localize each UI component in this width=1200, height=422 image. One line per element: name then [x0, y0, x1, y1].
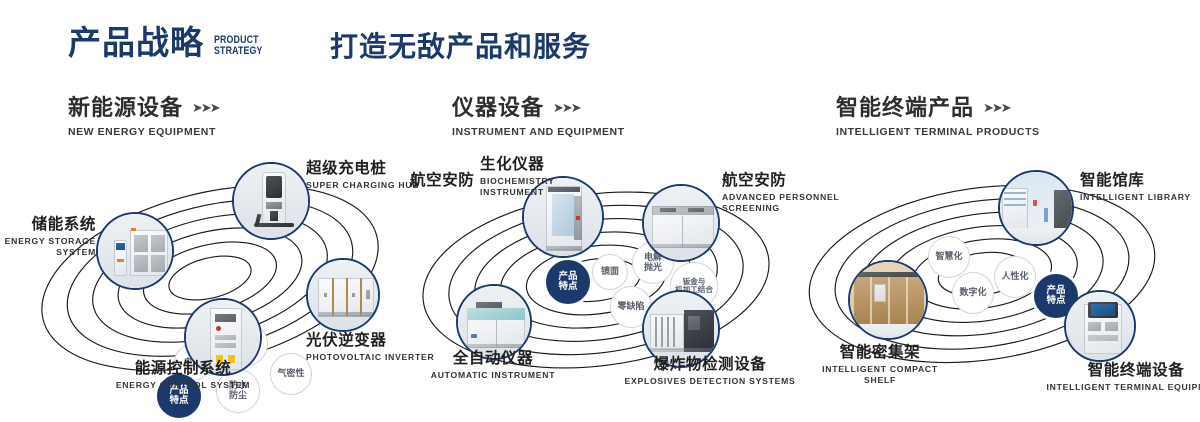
feature-bubble-humanized: 人性化 [994, 256, 1036, 298]
photovoltaic-inverter-photo [308, 260, 378, 330]
feature-bubble-digital: 数字化 [952, 272, 994, 314]
product-node-photovoltaic-inverter[interactable] [306, 258, 380, 332]
product-node-intelligent-compact-shelf[interactable] [848, 260, 928, 340]
chevron-right-icon: ➤➤➤ [553, 101, 580, 116]
section-heading-new-energy: 新能源设备 ➤➤➤ NEW ENERGY EQUIPMENT [68, 96, 219, 138]
section-heading-en: INSTRUMENT AND EQUIPMENT [452, 126, 625, 138]
product-node-energy-storage-system[interactable] [96, 212, 174, 290]
product-node-super-charging-hub[interactable] [232, 162, 310, 240]
page-title-en-line2: STRATEGY [214, 46, 263, 57]
section-heading-cn: 仪器设备 ➤➤➤ [452, 96, 625, 121]
intelligent-library-photo [1000, 172, 1072, 244]
intelligent-terminal-equipment-photo [1066, 292, 1134, 360]
section-heading-cn-text: 仪器设备 [452, 96, 544, 121]
energy-storage-system-photo [98, 214, 172, 288]
chevron-right-icon: ➤➤➤ [983, 101, 1010, 116]
caption-intelligent-compact-shelf: 智能密集架 INTELLIGENT COMPACT SHELF [780, 344, 980, 385]
automatic-instrument-photo [458, 286, 530, 358]
caption-energy-control-system: 能源控制系统 ENERGY CONTROL SYSTEM [88, 360, 278, 391]
caption-aviation-security: 航空安防 [410, 172, 474, 190]
section-heading-en: INTELLIGENT TERMINAL PRODUCTS [836, 126, 1040, 138]
caption-automatic-instrument: 全自动仪器 AUTOMATIC INSTRUMENT [398, 350, 588, 381]
product-node-intelligent-terminal-equipment[interactable] [1064, 290, 1136, 362]
panel-instrument: 镜面 电解 抛光 钣金与 机加工结合 零缺陷 产品 特点 航空安防 [398, 150, 798, 400]
infographic-page: 产品战略 PRODUCT STRATEGY 打造无敌产品和服务 新能源设备 ➤➤… [0, 0, 1200, 422]
section-heading-intelligent-terminal: 智能终端产品 ➤➤➤ INTELLIGENT TERMINAL PRODUCTS [836, 96, 1040, 138]
section-heading-cn-text: 新能源设备 [68, 96, 183, 121]
product-node-automatic-instrument[interactable] [456, 284, 532, 360]
panel-intelligent-terminal: 智慧化 人性化 数字化 产品 特点 [790, 150, 1190, 400]
section-heading-instrument: 仪器设备 ➤➤➤ INSTRUMENT AND EQUIPMENT [452, 96, 625, 138]
caption-biochemistry-instrument: 生化仪器 BIOCHEMISTRY INSTRUMENT [480, 156, 555, 197]
section-heading-cn-text: 智能终端产品 [836, 96, 974, 121]
caption-intelligent-terminal-equipment: 智能终端设备 INTELLIGENT TERMINAL EQUIPMENT [1036, 362, 1200, 393]
super-charging-hub-photo [234, 164, 308, 238]
product-node-intelligent-library[interactable] [998, 170, 1074, 246]
intelligent-compact-shelf-photo [850, 262, 926, 338]
section-heading-en: NEW ENERGY EQUIPMENT [68, 126, 219, 138]
chevron-right-icon: ➤➤➤ [192, 101, 219, 116]
feature-bubble-mirror-finish: 镜面 [592, 254, 628, 290]
panel-new-energy: 户外 防腐 防锈 防水 防尘 气密性 产品 特点 [10, 150, 410, 400]
feature-bubble-smart: 智慧化 [928, 236, 970, 278]
section-heading-cn: 智能终端产品 ➤➤➤ [836, 96, 1040, 121]
core-bubble-product-features: 产品 特点 [546, 260, 590, 304]
page-title: 产品战略 PRODUCT STRATEGY [68, 26, 275, 59]
explosives-detection-systems-photo [644, 292, 718, 366]
advanced-personnel-screening-photo [644, 186, 718, 260]
section-heading-cn: 新能源设备 ➤➤➤ [68, 96, 219, 121]
caption-energy-storage-system: 储能系统 ENERGY STORAGE SYSTEM [0, 216, 96, 257]
page-slogan: 打造无敌产品和服务 [330, 33, 591, 61]
page-title-en: PRODUCT STRATEGY [214, 35, 263, 57]
product-node-advanced-personnel-screening[interactable] [642, 184, 720, 262]
page-title-cn: 产品战略 [68, 26, 204, 59]
caption-intelligent-library: 智能馆库 INTELLIGENT LIBRARY [1080, 172, 1191, 203]
